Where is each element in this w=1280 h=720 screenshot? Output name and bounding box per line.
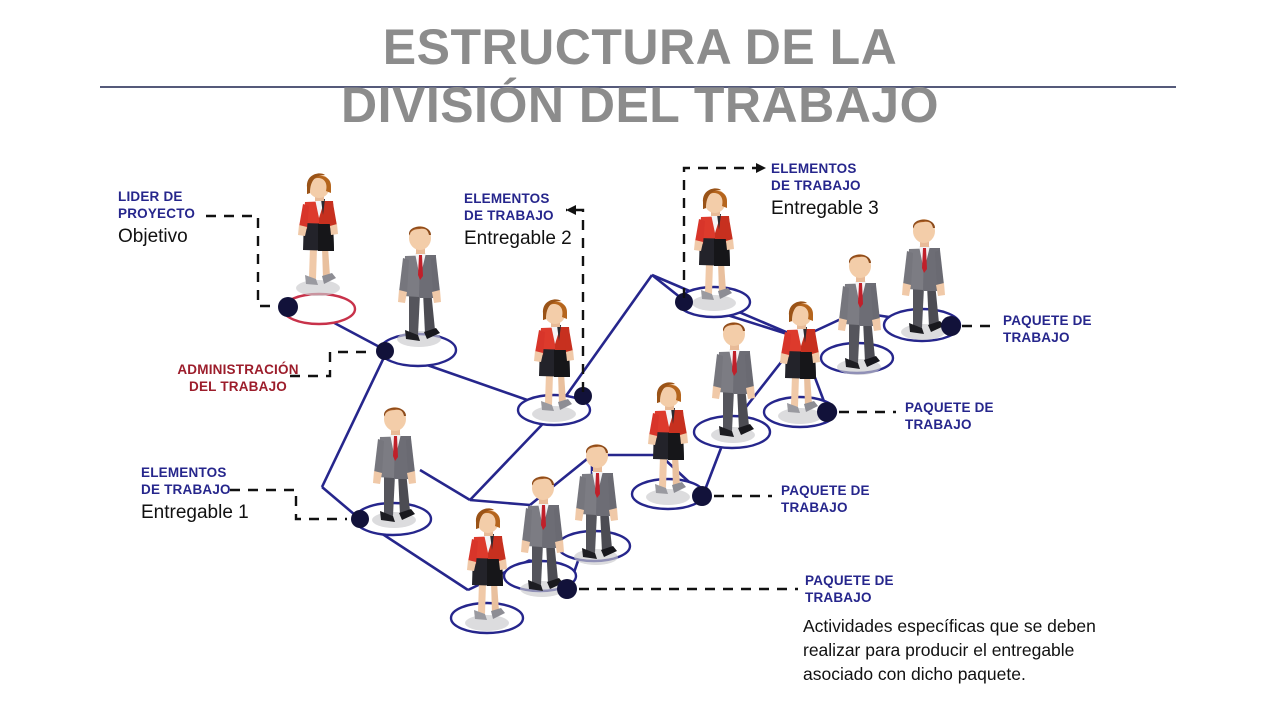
person-platform-center-female <box>632 382 704 509</box>
callout-administracion-del-trabajo: ADMINISTRACIÓN DEL TRABAJO <box>153 361 323 395</box>
slide-root: ESTRUCTURA DE LA DIVISIÓN DEL TRABAJO <box>0 0 1280 720</box>
node-paquete-2 <box>817 402 837 422</box>
title-line-1: ESTRUCTURA DE LA <box>0 18 1280 76</box>
callout-ent3-sub: Entregable 3 <box>771 196 961 221</box>
title-line-2: DIVISIÓN DEL TRABAJO <box>0 76 1280 134</box>
callout-admin-header: ADMINISTRACIÓN DEL TRABAJO <box>153 361 323 395</box>
callout-pkg4-header: PAQUETE DE TRABAJO <box>805 572 965 606</box>
node-paquete-4 <box>557 579 577 599</box>
callout-ent2-sub: Entregable 2 <box>464 226 644 251</box>
person-platform-pkg-mid-right <box>821 254 893 375</box>
callout-paquete-de-trabajo-4: PAQUETE DE TRABAJO <box>805 572 965 606</box>
callout-pkg1-header: PAQUETE DE TRABAJO <box>1003 312 1163 346</box>
person-platform-lower-male-a <box>558 444 630 565</box>
callout-ent3-header: ELEMENTOS DE TRABAJO <box>771 160 961 194</box>
callout-paquete-de-trabajo-1: PAQUETE DE TRABAJO <box>1003 312 1163 346</box>
person-platform-center-male <box>694 322 770 448</box>
node-admin <box>376 342 394 360</box>
callout-paquete-de-trabajo-3: PAQUETE DE TRABAJO <box>781 482 941 516</box>
node-paquete-1 <box>941 316 961 336</box>
callout-ent1-sub: Entregable 1 <box>141 500 321 525</box>
callout-pkg2-header: PAQUETE DE TRABAJO <box>905 399 1065 433</box>
callout-lider-header: LIDER DE PROYECTO <box>118 188 288 222</box>
paquete-description-text: Actividades específicas que se deben rea… <box>803 614 1133 686</box>
page-title: ESTRUCTURA DE LA DIVISIÓN DEL TRABAJO <box>0 18 1280 134</box>
callout-elementos-entregable-2: ELEMENTOS DE TRABAJO Entregable 2 <box>464 190 644 251</box>
node-paquete-3 <box>692 486 712 506</box>
callout-elementos-entregable-3: ELEMENTOS DE TRABAJO Entregable 3 <box>771 160 961 221</box>
callout-elementos-entregable-1: ELEMENTOS DE TRABAJO Entregable 1 <box>141 464 321 525</box>
person-platform-entregable2 <box>518 299 590 425</box>
node-entregable1 <box>351 510 369 528</box>
callout-ent1-header: ELEMENTOS DE TRABAJO <box>141 464 321 498</box>
callout-paquete-de-trabajo-2: PAQUETE DE TRABAJO <box>905 399 1065 433</box>
arrowhead-right-ent3 <box>756 163 766 173</box>
callout-lider-de-proyecto: LIDER DE PROYECTO Objetivo <box>118 188 288 249</box>
node-leader <box>278 297 298 317</box>
callout-lider-sub: Objetivo <box>118 224 288 249</box>
callout-ent2-header: ELEMENTOS DE TRABAJO <box>464 190 644 224</box>
callout-pkg3-header: PAQUETE DE TRABAJO <box>781 482 941 516</box>
